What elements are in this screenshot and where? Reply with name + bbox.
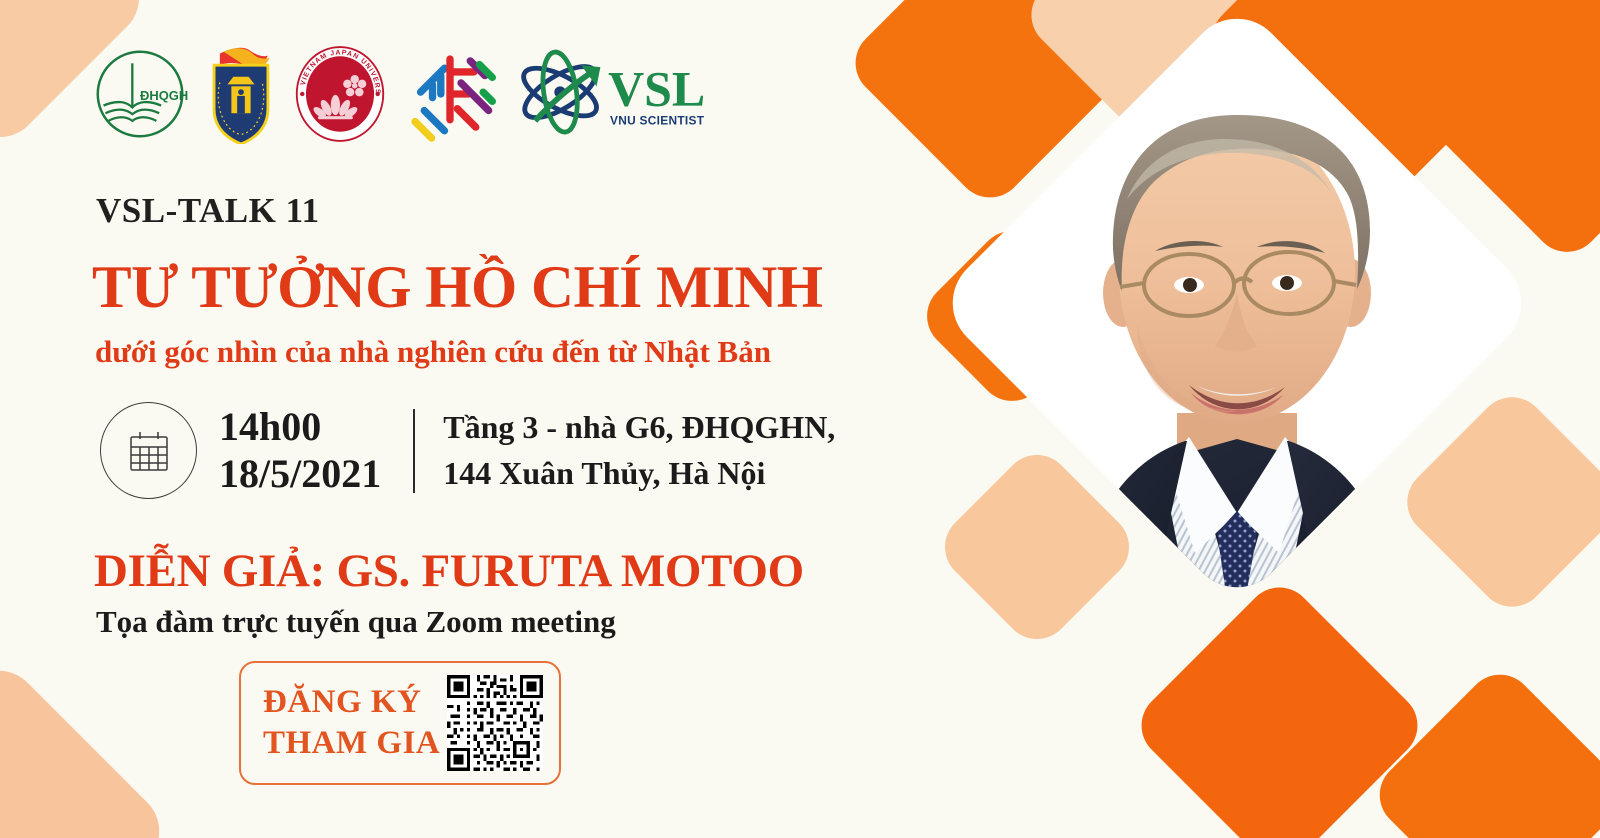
page-title: TƯ TƯỞNG HỒ CHÍ MINH — [92, 253, 822, 322]
talk-number: VSL-TALK 11 — [96, 191, 320, 231]
registration-label: ĐĂNG KÝ THAM GIA — [263, 682, 440, 764]
event-date: 18/5/2021 — [219, 451, 381, 498]
event-info-row: 14h00 18/5/2021 Tầng 3 - nhà G6, ĐHQGHN,… — [100, 402, 835, 499]
svg-text:VNU SCIENTIST LINKS: VNU SCIENTIST LINKS — [610, 114, 706, 128]
event-datetime: 14h00 18/5/2021 — [219, 404, 381, 498]
calendar-icon — [124, 426, 174, 476]
vnu-dhqghn-logo: ĐHQGHN — [92, 44, 188, 144]
vnu-ifi-logo — [404, 44, 496, 144]
calendar-icon-circle — [100, 402, 197, 499]
svg-text:ĐHQGHN: ĐHQGHN — [140, 88, 188, 103]
qr-code-icon[interactable] — [447, 675, 543, 771]
vertical-divider — [413, 409, 415, 493]
decorative-diamond-bottom-left — [0, 654, 176, 838]
logo-strip: ĐHQGHN — [92, 44, 706, 144]
vsl-logo: VSL VNU SCIENTIST LINKS — [514, 44, 706, 144]
vnu-shield-logo — [206, 44, 276, 144]
event-mode: Tọa đàm trực tuyến qua Zoom meeting — [96, 604, 616, 640]
registration-box[interactable]: ĐĂNG KÝ THAM GIA — [239, 661, 561, 785]
svg-text:VSL: VSL — [608, 62, 705, 117]
speaker-name: DIỄN GIẢ: GS. FURUTA MOTOO — [94, 544, 804, 598]
venue-line-1: Tầng 3 - nhà G6, ĐHQGHN, — [443, 405, 835, 450]
registration-label-line-1: ĐĂNG KÝ — [263, 682, 440, 723]
registration-label-line-2: THAM GIA — [263, 723, 440, 764]
event-time: 14h00 — [219, 404, 381, 451]
event-poster: ĐHQGHN — [0, 0, 1600, 838]
vietnam-japan-university-logo: VIETNAM JAPAN UNIVERSITY VNU since 1906 — [294, 44, 386, 144]
page-subtitle: dưới góc nhìn của nhà nghiên cứu đến từ … — [95, 334, 771, 370]
venue-line-2: 144 Xuân Thủy, Hà Nội — [443, 451, 835, 496]
event-venue: Tầng 3 - nhà G6, ĐHQGHN, 144 Xuân Thủy, … — [443, 405, 835, 496]
